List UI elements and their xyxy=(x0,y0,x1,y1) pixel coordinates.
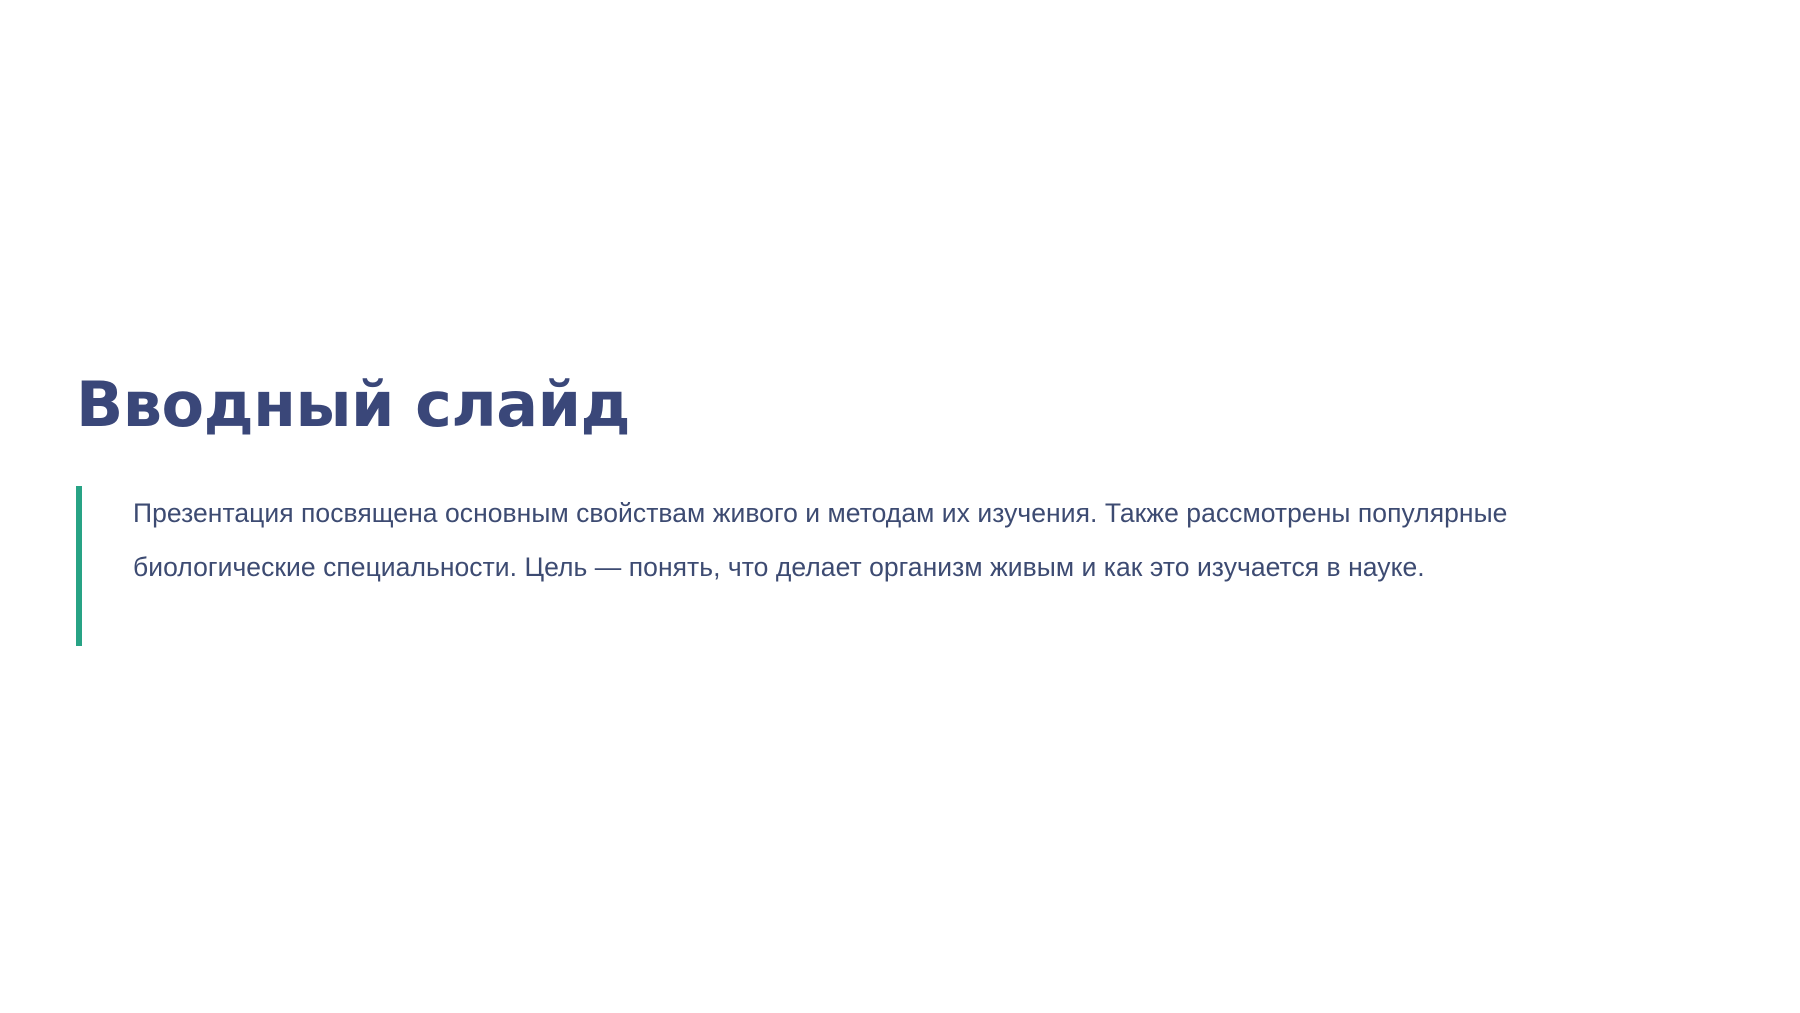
accent-rule xyxy=(76,486,82,646)
slide-body-text: Презентация посвящена основным свойствам… xyxy=(133,486,1689,594)
page-title: Вводный слайд xyxy=(76,372,1716,438)
body-block: Презентация посвящена основным свойствам… xyxy=(76,486,1716,646)
slide-content: Вводный слайд Презентация посвящена осно… xyxy=(76,372,1716,646)
slide-canvas: Вводный слайд Презентация посвящена осно… xyxy=(0,0,1800,1013)
